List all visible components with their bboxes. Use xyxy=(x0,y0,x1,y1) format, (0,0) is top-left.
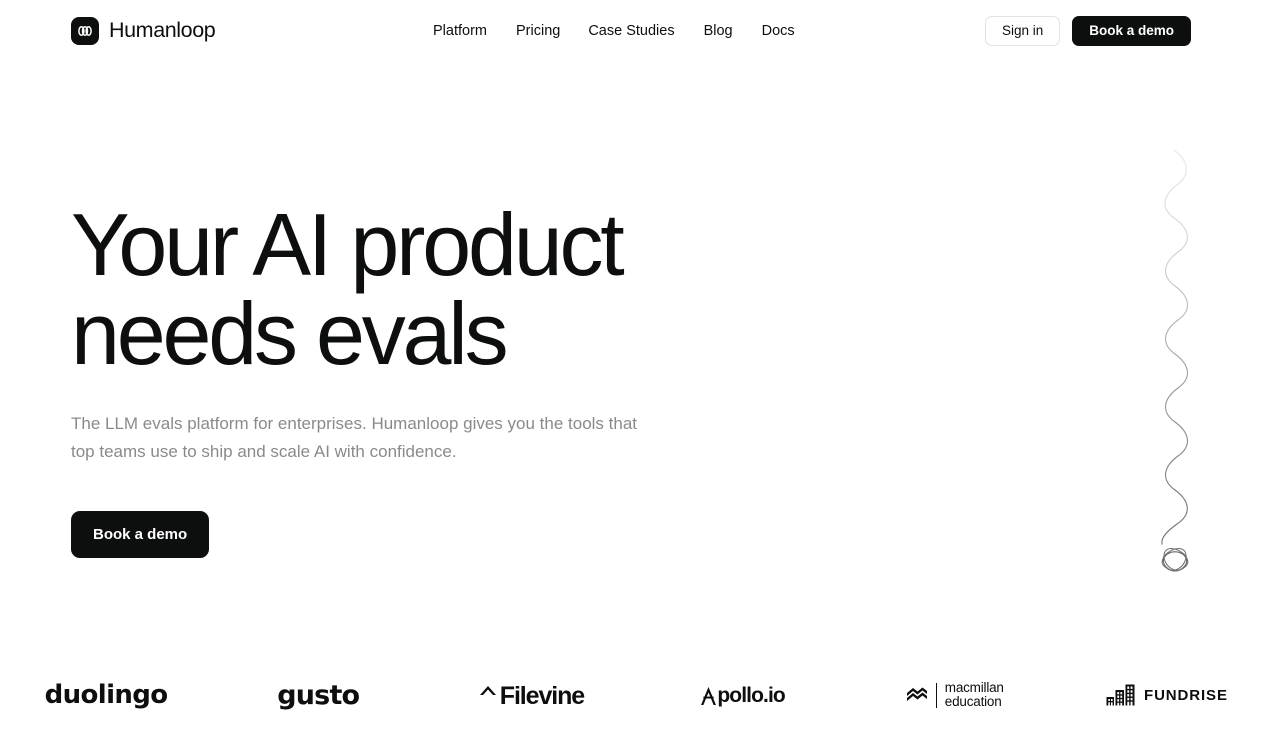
nav-item-platform[interactable]: Platform xyxy=(433,22,516,40)
logo-item-apollo: pollo.io xyxy=(637,672,849,718)
gusto-wordmark: gusto xyxy=(277,680,359,711)
sign-in-button[interactable]: Sign in xyxy=(985,16,1060,46)
fundrise-buildings-icon xyxy=(1106,684,1136,706)
nav-link-label[interactable]: Docs xyxy=(762,23,795,39)
nav-link-label[interactable]: Case Studies xyxy=(588,23,674,39)
nav-link-label[interactable]: Platform xyxy=(433,23,487,39)
logo-item-duolingo: duolingo xyxy=(0,672,212,718)
brand-logo-link[interactable]: Humanloop xyxy=(71,17,215,45)
apollo-triangle-icon xyxy=(700,685,717,706)
squiggle-wave-knot-graphic xyxy=(1148,148,1208,593)
customer-logos-strip: duolingo gusto Filevine pollo.io xyxy=(0,660,1273,730)
apollo-label: pollo.io xyxy=(717,685,784,706)
book-demo-button-hero[interactable]: Book a demo xyxy=(71,511,209,558)
hero-subtitle: The LLM evals platform for enterprises. … xyxy=(71,410,641,466)
macmillan-divider xyxy=(936,683,937,708)
humanloop-logo-icon xyxy=(71,17,99,45)
nav-item-docs[interactable]: Docs xyxy=(762,22,795,40)
filevine-label: Filevine xyxy=(500,684,584,709)
macmillan-chevrons-icon xyxy=(906,684,928,706)
header-actions: Sign in Book a demo xyxy=(985,16,1191,46)
brand-name: Humanloop xyxy=(109,20,215,42)
logo-item-fundrise: FUNDRISE xyxy=(1061,672,1273,718)
knot-shape xyxy=(1162,549,1188,571)
main-navigation: Platform Pricing Case Studies Blog Docs xyxy=(433,22,795,40)
hero-section: Your AI product needs evals The LLM eval… xyxy=(71,200,711,558)
nav-item-pricing[interactable]: Pricing xyxy=(516,22,588,40)
nav-link-label[interactable]: Pricing xyxy=(516,23,560,39)
macmillan-label: macmillan education xyxy=(945,681,1004,710)
nav-link-label[interactable]: Blog xyxy=(704,23,733,39)
nav-item-blog[interactable]: Blog xyxy=(704,22,762,40)
logo-item-gusto: gusto xyxy=(212,672,424,718)
logo-item-filevine: Filevine xyxy=(424,672,636,718)
site-header: Humanloop Platform Pricing Case Studies … xyxy=(0,0,1273,62)
fundrise-label: FUNDRISE xyxy=(1144,688,1228,703)
logo-item-macmillan: macmillan education xyxy=(849,672,1061,718)
nav-item-case-studies[interactable]: Case Studies xyxy=(588,22,703,40)
filevine-chevron-icon xyxy=(477,681,499,709)
book-demo-button-header[interactable]: Book a demo xyxy=(1072,16,1191,46)
duolingo-wordmark: duolingo xyxy=(45,680,168,710)
page-title: Your AI product needs evals xyxy=(71,200,711,378)
